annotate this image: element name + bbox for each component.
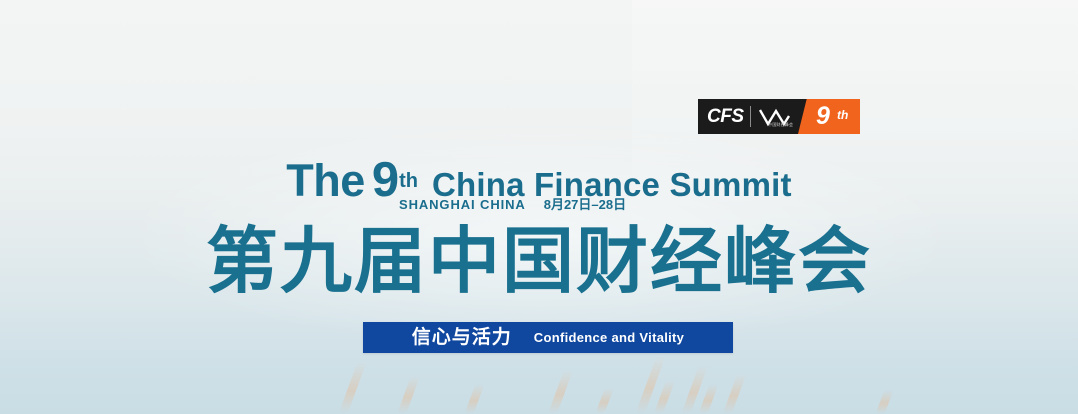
badge-mark-subtext: 中国财经峰会 xyxy=(768,122,793,127)
badge-divider xyxy=(750,106,751,127)
title-edition-number: 9 xyxy=(372,153,399,207)
event-banner: CFS 中国财经峰会 9 th The9thChina Finance Summ… xyxy=(0,0,1078,414)
cfs-logo-badge: CFS 中国财经峰会 9 th xyxy=(698,99,860,134)
title-word-the: The xyxy=(286,155,365,206)
ribbon-chinese-theme: 信心与活力 xyxy=(412,327,512,348)
event-location: SHANGHAI CHINA xyxy=(399,197,526,212)
decorative-streaks xyxy=(0,304,1078,414)
event-date: 8月27日–28日 xyxy=(544,197,626,212)
chinese-title: 第九届中国财经峰会 xyxy=(0,222,1078,302)
badge-edition-number: 9 xyxy=(816,102,830,130)
ribbon-english-theme: Confidence and Vitality xyxy=(534,330,684,345)
theme-ribbon: 信心与活力 Confidence and Vitality xyxy=(363,322,733,353)
badge-brand-text: CFS xyxy=(707,106,744,127)
badge-edition-ordinal: th xyxy=(837,109,848,122)
title-edition-ordinal: th xyxy=(399,170,418,192)
location-date-line: SHANGHAI CHINA8月27日–28日 xyxy=(399,194,899,213)
